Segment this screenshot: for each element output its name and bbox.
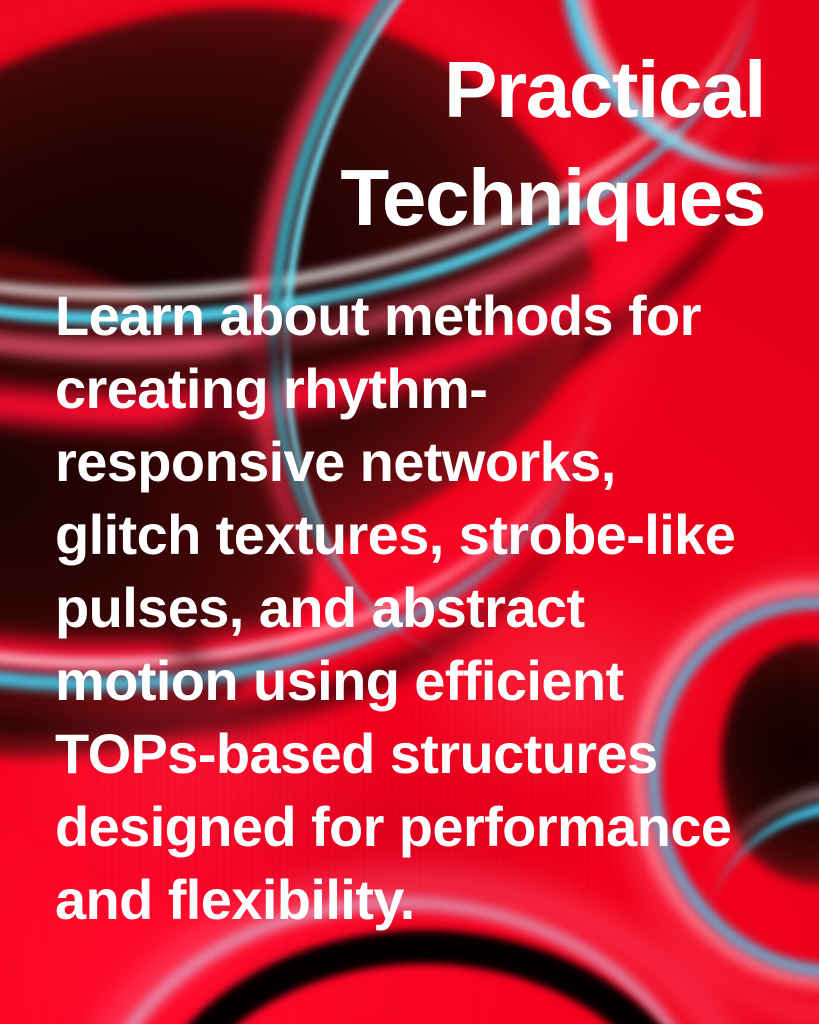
poster-slide: Practical Techniques Learn about methods… — [0, 0, 819, 1024]
slide-heading: Practical Techniques — [45, 36, 765, 252]
slide-content: Practical Techniques Learn about methods… — [0, 0, 819, 1024]
slide-body-text: Learn about methods for creating rhythm-… — [55, 279, 755, 936]
